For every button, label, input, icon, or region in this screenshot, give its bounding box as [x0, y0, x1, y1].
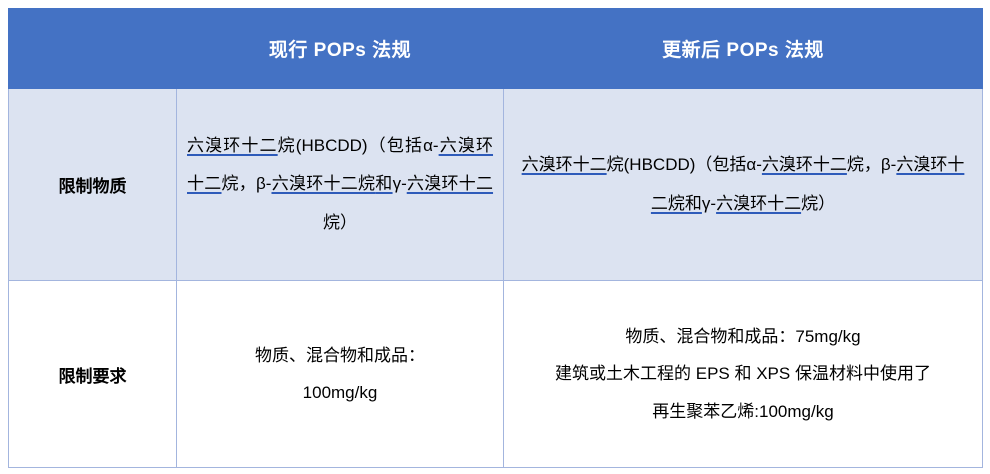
chem-link-segment: 六溴环十二	[762, 155, 847, 174]
chemical-text-updated: 六溴环十二烷(HBCDD)（包括α-六溴环十二烷，β-六溴环十二烷和γ-六溴环十…	[504, 142, 982, 227]
cell-updated-restricted-substance: 六溴环十二烷(HBCDD)（包括α-六溴环十二烷，β-六溴环十二烷和γ-六溴环十…	[504, 89, 983, 281]
chem-plain-segment: 烷）	[323, 213, 357, 232]
chem-link-segment: 六溴环十二烷	[271, 174, 375, 193]
chem-link-segment: 六溴环十二	[187, 136, 278, 155]
chem-plain-segment: 烷）	[801, 194, 835, 213]
chem-link-segment: 六溴环十二	[716, 194, 801, 213]
chem-link-segment: 和	[375, 174, 392, 193]
limit-line: 物质、混合物和成品：75mg/kg	[518, 318, 968, 355]
header-cell-blank	[9, 9, 177, 89]
row-label-restriction-requirement: 限制要求	[9, 281, 177, 468]
chem-link-segment: 六溴环十二	[522, 155, 607, 174]
row-label-restricted-substance: 限制物质	[9, 89, 177, 281]
table-row: 限制要求 物质、混合物和成品： 100mg/kg 物质、混合物和成品：75mg/…	[9, 281, 983, 468]
limit-line: 物质、混合物和成品：	[191, 337, 489, 374]
cell-current-restriction-requirement: 物质、混合物和成品： 100mg/kg	[177, 281, 504, 468]
pops-comparison-table: 现行 POPs 法规 更新后 POPs 法规 限制物质 六溴环十二烷(HBCDD…	[8, 8, 983, 468]
header-cell-updated-regulation: 更新后 POPs 法规	[504, 9, 983, 89]
chem-plain-segment: 烷，β-	[222, 174, 272, 193]
chem-link-segment: 六溴环十二	[407, 174, 493, 193]
limit-text-updated: 物质、混合物和成品：75mg/kg 建筑或土木工程的 EPS 和 XPS 保温材…	[504, 312, 982, 436]
table-row: 限制物质 六溴环十二烷(HBCDD)（包括α-六溴环十二烷，β-六溴环十二烷和γ…	[9, 89, 983, 281]
limit-line: 建筑或土木工程的 EPS 和 XPS 保温材料中使用了	[518, 355, 968, 392]
chem-plain-segment: γ-	[393, 174, 407, 193]
chem-plain-segment: γ-	[702, 194, 716, 213]
cell-updated-restriction-requirement: 物质、混合物和成品：75mg/kg 建筑或土木工程的 EPS 和 XPS 保温材…	[504, 281, 983, 468]
limit-text-current: 物质、混合物和成品： 100mg/kg	[177, 331, 503, 418]
screenshot-root: 现行 POPs 法规 更新后 POPs 法规 限制物质 六溴环十二烷(HBCDD…	[0, 0, 990, 474]
chem-plain-segment: β-	[881, 155, 896, 174]
chem-plain-segment: 烷，	[847, 155, 881, 174]
limit-value: 100mg/kg	[191, 374, 489, 411]
header-cell-current-regulation: 现行 POPs 法规	[177, 9, 504, 89]
table-header-row: 现行 POPs 法规 更新后 POPs 法规	[9, 9, 983, 89]
limit-value: 再生聚苯乙烯:100mg/kg	[518, 393, 968, 430]
cell-current-restricted-substance: 六溴环十二烷(HBCDD)（包括α-六溴环十二烷，β-六溴环十二烷和γ-六溴环十…	[177, 89, 504, 281]
chem-plain-segment: 烷(HBCDD)（包括α-	[278, 136, 439, 155]
chemical-text-current: 六溴环十二烷(HBCDD)（包括α-六溴环十二烷，β-六溴环十二烷和γ-六溴环十…	[177, 123, 503, 246]
chem-plain-segment: 烷(HBCDD)（包括α-	[607, 155, 762, 174]
